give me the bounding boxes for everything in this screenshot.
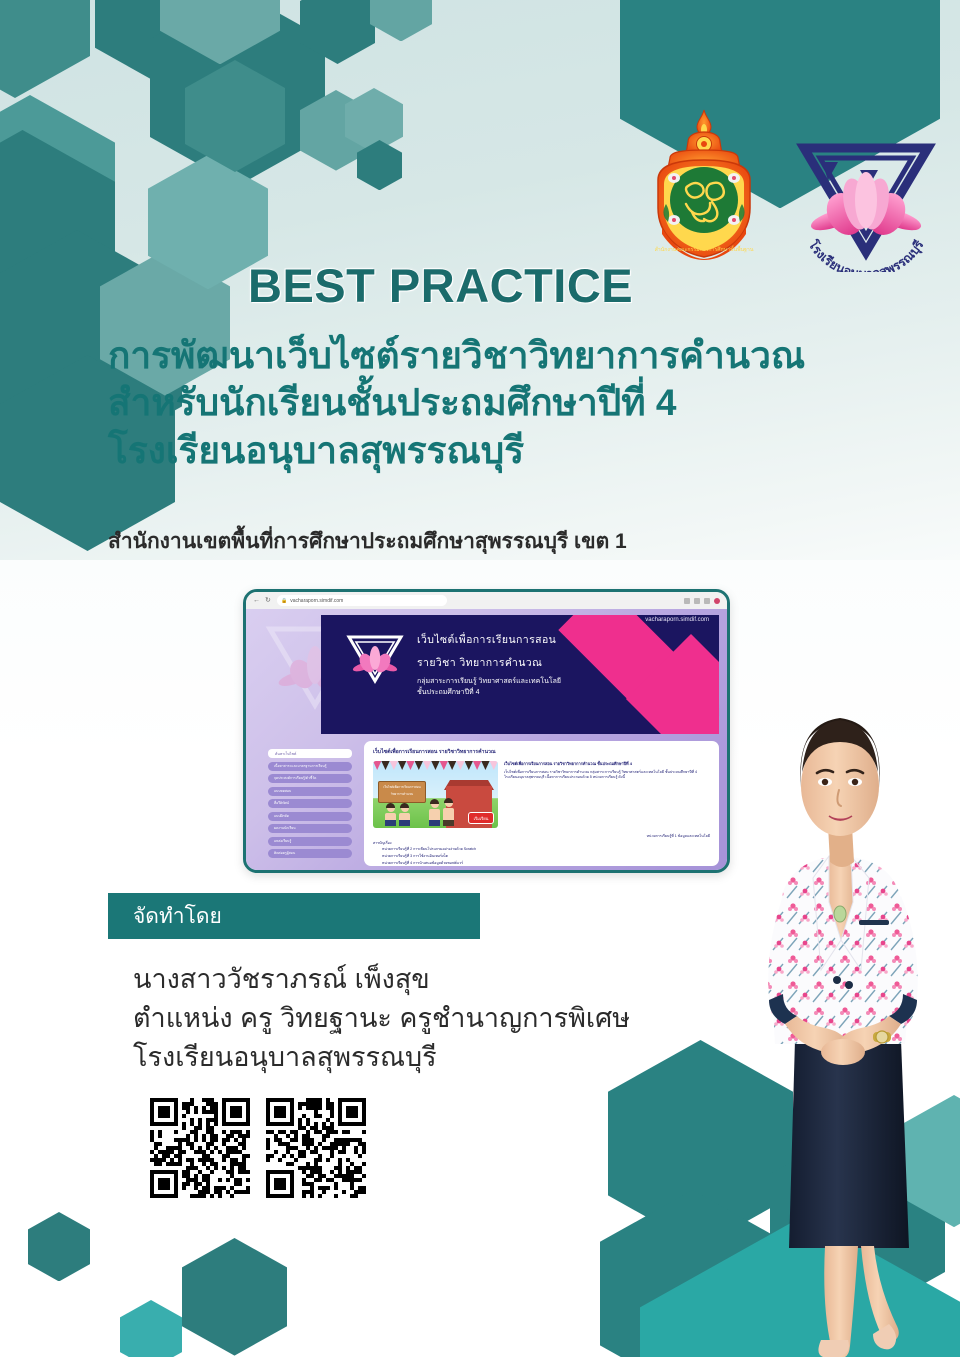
content-body: เว็บไซต์เพื่อการเรียนการสอน รายวิชาวิทยา… bbox=[504, 770, 697, 780]
hero-line-2: รายวิชา วิทยาการคำนวณ bbox=[417, 654, 561, 671]
credit-line-2: ตำแหน่ง ครู วิทยฐานะ ครูชำนาญการพิเศษ bbox=[133, 999, 630, 1038]
unit-item-3[interactable]: หน่วยการเรียนรู้ที่ 3 การใช้งานอินเทอร์เ… bbox=[373, 853, 710, 860]
page-subtitle: สำนักงานเขตพื้นที่การศึกษาประถมศึกษาสุพร… bbox=[108, 525, 627, 558]
menu-icon[interactable] bbox=[704, 598, 710, 604]
credit-text: นางสาววัชราภรณ์ เพ็งสุข ตำแหน่ง ครู วิทย… bbox=[133, 960, 630, 1077]
hero-line-3: กลุ่มสาระการเรียนรู้ วิทยาศาสตร์และเทคโน… bbox=[417, 677, 561, 688]
site-menu-item-7[interactable]: ติดต่อครูผู้สอน bbox=[268, 849, 352, 858]
site-hero-banner: vacharaporn.simdif.com เว็บไซต์เพื่อการเ… bbox=[321, 615, 719, 734]
page-title-th: การพัฒนาเว็บไซต์รายวิชาวิทยาการคำนวณ สำห… bbox=[108, 332, 928, 474]
hero-line-1: เว็บไซต์เพื่อการเรียนการสอน bbox=[417, 631, 561, 648]
site-menu-item-0[interactable]: เนื้อหาสาระและมาตรฐานการเรียนรู้ bbox=[268, 762, 352, 771]
credit-line-1: นางสาววัชราภรณ์ เพ็งสุข bbox=[133, 960, 630, 999]
title-line-3: โรงเรียนอนุบาลสุพรรณบุรี bbox=[108, 427, 928, 474]
hero-school-logo-icon bbox=[341, 633, 409, 695]
site-sidebar-menu: ค้นหาเว็บไซต์ เนื้อหาสาระและมาตรฐานการเร… bbox=[268, 749, 352, 862]
site-url-label: vacharaporn.simdif.com bbox=[645, 617, 709, 623]
title-line-2: สำหรับนักเรียนชั้นประถมศึกษาปีที่ 4 bbox=[108, 379, 928, 426]
unit-list-label: สารบัญเรื่อง bbox=[373, 840, 710, 847]
student-figure bbox=[443, 799, 454, 826]
board-line-1: เว็บไซต์เพื่อการเรียนการสอน bbox=[379, 785, 425, 789]
svg-text:สำนักงานคณะกรรมการการศึกษาขั้น: สำนักงานคณะกรรมการการศึกษาขั้นพื้นฐาน bbox=[655, 245, 754, 253]
content-heading: เว็บไซต์เพื่อการเรียนการสอน รายวิชาวิทยา… bbox=[373, 748, 710, 756]
site-menu-item-1[interactable]: จุดประสงค์การเรียนรู้/ตัวชี้วัด bbox=[268, 774, 352, 783]
reload-icon[interactable]: ↻ bbox=[265, 597, 272, 604]
site-content-card: เว็บไซต์เพื่อการเรียนการสอน รายวิชาวิทยา… bbox=[364, 741, 719, 866]
qr-code-materials[interactable] bbox=[266, 1098, 366, 1198]
board-line-2: วิทยาการคำนวณ bbox=[379, 792, 425, 796]
content-row: เว็บไซต์เพื่อการเรียนการสอน วิทยาการคำนว… bbox=[373, 761, 710, 828]
site-menu-item-6[interactable]: แหล่งเรียนรู้ bbox=[268, 837, 352, 846]
lock-icon: 🔒 bbox=[281, 598, 287, 604]
title-line-1: การพัฒนาเว็บไซต์รายวิชาวิทยาการคำนวณ bbox=[108, 332, 928, 379]
site-menu-item-3[interactable]: สื่อวีดิทัศน์ bbox=[268, 799, 352, 808]
ministry-emblem-icon: สำนักงานคณะกรรมการการศึกษาขั้นพื้นฐาน bbox=[648, 108, 760, 260]
extensions-icon[interactable] bbox=[684, 598, 690, 604]
school-logo-icon: โรงเรียนอนุบาลสุพรรณบุรี bbox=[782, 140, 950, 272]
hero-line-4: ชั้นประถมศึกษาปีที่ 4 bbox=[417, 688, 561, 699]
content-unit-list: หน่วยการเรียนรู้ที่ 1 ข้อมูลและเทคโนโลยี… bbox=[373, 833, 710, 866]
teacher-portrait bbox=[733, 640, 960, 1357]
qr-code-website[interactable] bbox=[150, 1098, 250, 1198]
site-menu-item-5[interactable]: ผลงานนักเรียน bbox=[268, 824, 352, 833]
site-viewport: นโลยี vacharaporn.simdif.com bbox=[246, 609, 727, 870]
student-figure bbox=[399, 804, 410, 826]
hero-text-block: เว็บไซต์เพื่อการเรียนการสอน รายวิชา วิทย… bbox=[417, 631, 561, 698]
site-menu-item-2[interactable]: แบบทดสอบ bbox=[268, 787, 352, 796]
content-text: เว็บไซต์เพื่อการเรียนการสอน รายวิชาวิทยา… bbox=[504, 761, 710, 828]
bookmark-icon[interactable] bbox=[694, 598, 700, 604]
unit-item-4[interactable]: หน่วยการเรียนรู้ที่ 4 การนำเสนอข้อมูลด้ว… bbox=[373, 860, 710, 866]
unit-item-2[interactable]: หน่วยการเรียนรู้ที่ 2 การเขียนโปรแกรมอย่… bbox=[373, 846, 710, 853]
credit-banner: จัดทำโดย bbox=[108, 893, 480, 939]
content-subheading: เว็บไซต์เพื่อการเรียนการสอน รายวิชาวิทยา… bbox=[504, 761, 710, 767]
student-figure bbox=[429, 800, 440, 826]
browser-address-bar[interactable]: 🔒 vacharaporn.simdif.com bbox=[277, 595, 447, 606]
credit-line-3: โรงเรียนอนุบาลสุพรรณบุรี bbox=[133, 1038, 630, 1077]
bunting-decoration bbox=[373, 761, 498, 770]
page-title-en: BEST PRACTICE bbox=[248, 258, 633, 313]
poster-root: สำนักงานคณะกรรมการการศึกษาขั้นพื้นฐาน bbox=[0, 0, 960, 1357]
browser-toolbar-right bbox=[684, 598, 720, 604]
site-menu-item-4[interactable]: แบบฝึกหัด bbox=[268, 812, 352, 821]
website-screenshot: ← ↻ 🔒 vacharaporn.simdif.com bbox=[243, 589, 730, 873]
unit-item-1[interactable]: หน่วยการเรียนรู้ที่ 1 ข้อมูลและเทคโนโลยี bbox=[373, 833, 710, 840]
browser-toolbar: ← ↻ 🔒 vacharaporn.simdif.com bbox=[246, 592, 727, 609]
arrow-left-icon[interactable]: ← bbox=[253, 597, 260, 604]
student-figure bbox=[385, 804, 396, 826]
profile-avatar[interactable] bbox=[714, 598, 720, 604]
browser-url-text: vacharaporn.simdif.com bbox=[290, 598, 343, 604]
content-illustration: เว็บไซต์เพื่อการเรียนการสอน วิทยาการคำนว… bbox=[373, 761, 498, 828]
illustration-board: เว็บไซต์เพื่อการเรียนการสอน วิทยาการคำนว… bbox=[378, 781, 426, 803]
start-learning-button[interactable]: เริ่มเรียน bbox=[468, 812, 494, 824]
site-search-input[interactable]: ค้นหาเว็บไซต์ bbox=[268, 749, 352, 758]
